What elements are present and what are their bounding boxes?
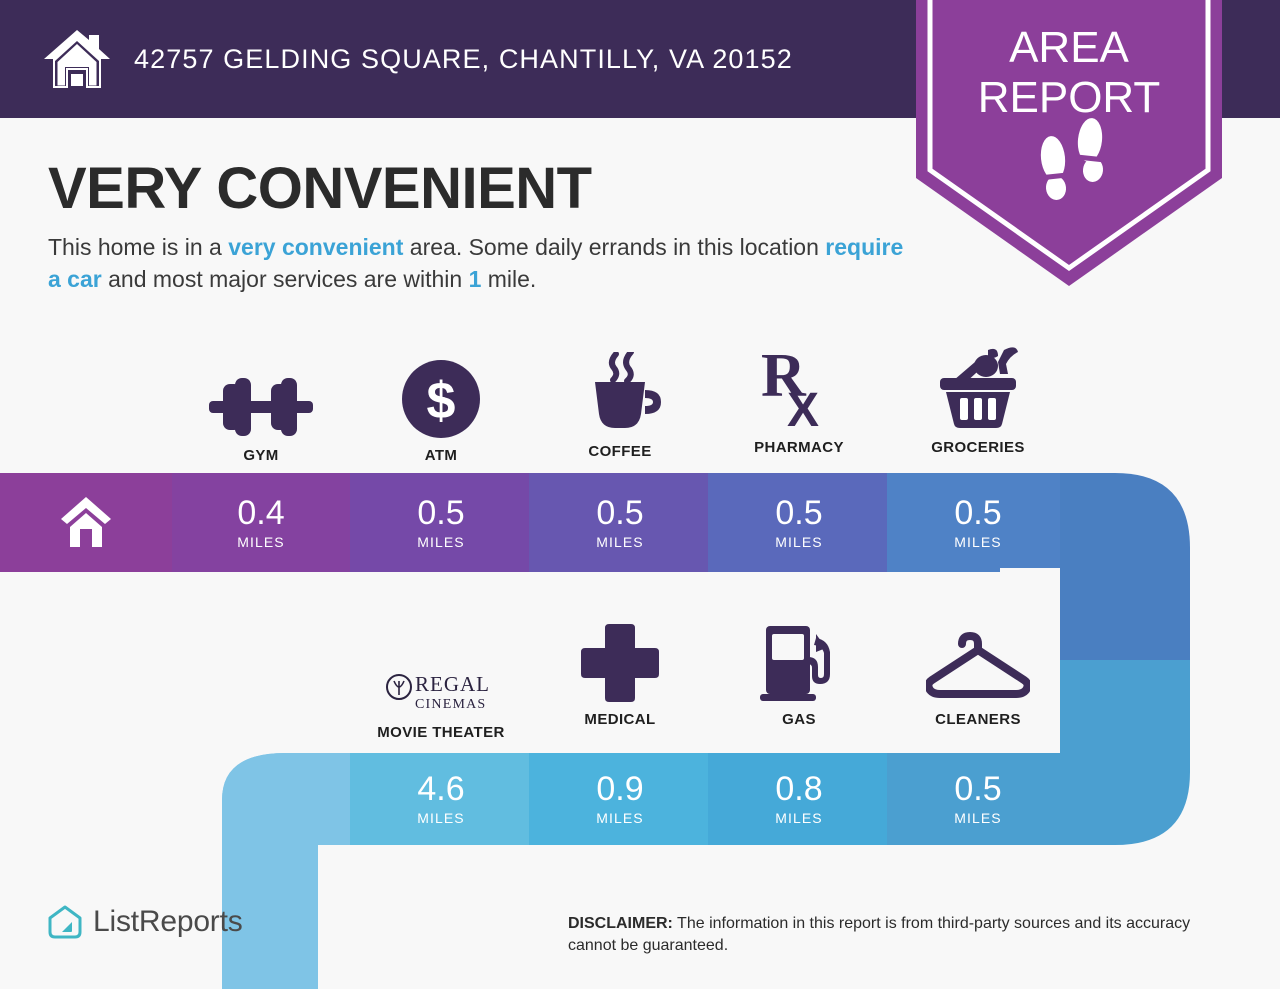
amenity-label: PHARMACY [710,439,888,456]
amenity-label: MOVIE THEATER [352,724,530,741]
gas-pump-icon [758,622,840,702]
row1-cell-gym [172,473,350,572]
amenity-groceries[interactable]: GROCERIES [889,340,1067,456]
regal-cinemas-logo: REGAL CINEMAS [385,669,497,715]
row1-segments [0,473,1060,572]
amenity-label: GROCERIES [889,439,1067,456]
amenity-gym[interactable]: GYM [172,348,350,464]
basket-icon [934,344,1022,430]
badge-line2: REPORT [978,73,1161,122]
amenity-gas[interactable]: GAS [710,612,888,728]
regal-line2: CINEMAS [415,697,486,712]
rx-icon: R X [757,344,841,430]
row1-cell-atm [350,473,529,572]
listreports-house-icon [48,905,82,939]
clothes-hanger-icon [926,622,1030,702]
row2-cell-medical [529,753,708,845]
amenity-label: GAS [710,711,888,728]
dumbbell-icon [209,376,313,438]
amenity-label: GYM [172,447,350,464]
row1-cell-coffee [529,473,708,572]
amenity-movie-theater[interactable]: REGAL CINEMAS MOVIE THEATER [352,625,530,741]
disclaimer: DISCLAIMER: The information in this repo… [568,913,1236,956]
svg-text:X: X [787,384,819,430]
listreports-logo[interactable]: ListReports [48,905,243,939]
coffee-cup-icon [577,352,663,434]
svg-text:$: $ [427,372,456,430]
amenity-cleaners[interactable]: CLEANERS [889,612,1067,728]
area-report-badge: AREA REPORT [916,0,1222,286]
amenity-coffee[interactable]: COFFEE [531,344,709,460]
amenity-label: MEDICAL [531,711,709,728]
medical-cross-icon [581,624,659,702]
amenity-pharmacy[interactable]: R X PHARMACY [710,340,888,456]
row1-cell-pharmacy [708,473,887,572]
amenity-atm[interactable]: $ ATM [352,348,530,464]
row2-segments [222,753,1062,845]
dollar-circle-icon: $ [402,360,480,438]
amenity-label: ATM [352,447,530,464]
regal-line1: REGAL [415,672,490,696]
listreports-wordmark: ListReports [93,905,243,939]
disclaimer-label: DISCLAIMER: [568,915,673,932]
badge-line1: AREA [1009,23,1129,72]
row2-cell-cleaners [887,753,1062,845]
amenity-label: COFFEE [531,443,709,460]
amenity-medical[interactable]: MEDICAL [531,612,709,728]
row2-cell-movie [350,753,529,845]
row2-cell-gas [708,753,887,845]
row1-cell-groceries [887,473,1060,572]
home-icon [60,495,112,549]
amenity-label: CLEANERS [889,711,1067,728]
